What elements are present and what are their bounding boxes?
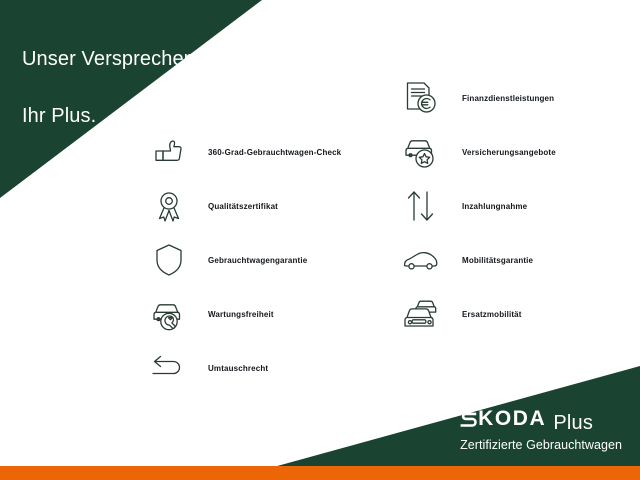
feature-item: Mobilitätsgarantie [400, 234, 556, 286]
orange-accent-bar [0, 466, 640, 480]
feature-label: Umtauschrecht [208, 364, 268, 373]
feature-item: 360-Grad-Gebrauchtwagen-Check [148, 126, 341, 178]
logo-subtitle: Zertifizierte Gebrauchtwagen [460, 438, 622, 452]
document-euro-icon [400, 77, 442, 119]
up-down-arrows-icon [400, 185, 442, 227]
feature-item: Ersatzmobilität [400, 288, 556, 340]
headline-line-1: Unser Versprechen. [22, 45, 201, 73]
plus-word: Plus [553, 412, 593, 435]
feature-label: Finanzdienstleistungen [462, 94, 554, 103]
two-cars-icon [400, 293, 442, 335]
skoda-s-glyph [460, 408, 477, 429]
feature-item: Qualitätszertifikat [148, 180, 341, 232]
car-wrench-icon [148, 293, 190, 335]
car-side-icon [400, 239, 442, 281]
feature-label: Wartungsfreiheit [208, 310, 274, 319]
car-star-icon [400, 131, 442, 173]
feature-label: Gebrauchtwagengarantie [208, 256, 307, 265]
feature-item: Finanzdienstleistungen [400, 72, 556, 124]
feature-label: Ersatzmobilität [462, 310, 522, 319]
feature-item: Gebrauchtwagengarantie [148, 234, 341, 286]
feature-item: Umtauschrecht [148, 342, 341, 394]
promo-banner: Unser Versprechen. Ihr Plus. 360-Grad-Ge… [0, 0, 640, 480]
feature-list-left: 360-Grad-Gebrauchtwagen-Check Qualitätsz… [148, 126, 341, 396]
skoda-wordmark-text: KODA [478, 408, 546, 429]
return-arrow-icon [148, 347, 190, 389]
feature-item: Versicherungsangebote [400, 126, 556, 178]
logo-wordmark-row: KODA Plus [460, 408, 622, 435]
feature-item: Inzahlungnahme [400, 180, 556, 232]
feature-list-right: Finanzdienstleistungen Versicherungsange… [400, 72, 556, 342]
feature-label: Versicherungsangebote [462, 148, 556, 157]
feature-label: Qualitätszertifikat [208, 202, 278, 211]
skoda-plus-logo: KODA Plus Zertifizierte Gebrauchtwagen [460, 408, 622, 452]
shield-icon [148, 239, 190, 281]
feature-label: 360-Grad-Gebrauchtwagen-Check [208, 148, 341, 157]
feature-label: Mobilitätsgarantie [462, 256, 533, 265]
feature-item: Wartungsfreiheit [148, 288, 341, 340]
feature-label: Inzahlungnahme [462, 202, 527, 211]
skoda-wordmark: KODA [460, 408, 546, 429]
thumbs-up-icon [148, 131, 190, 173]
award-rosette-icon [148, 185, 190, 227]
